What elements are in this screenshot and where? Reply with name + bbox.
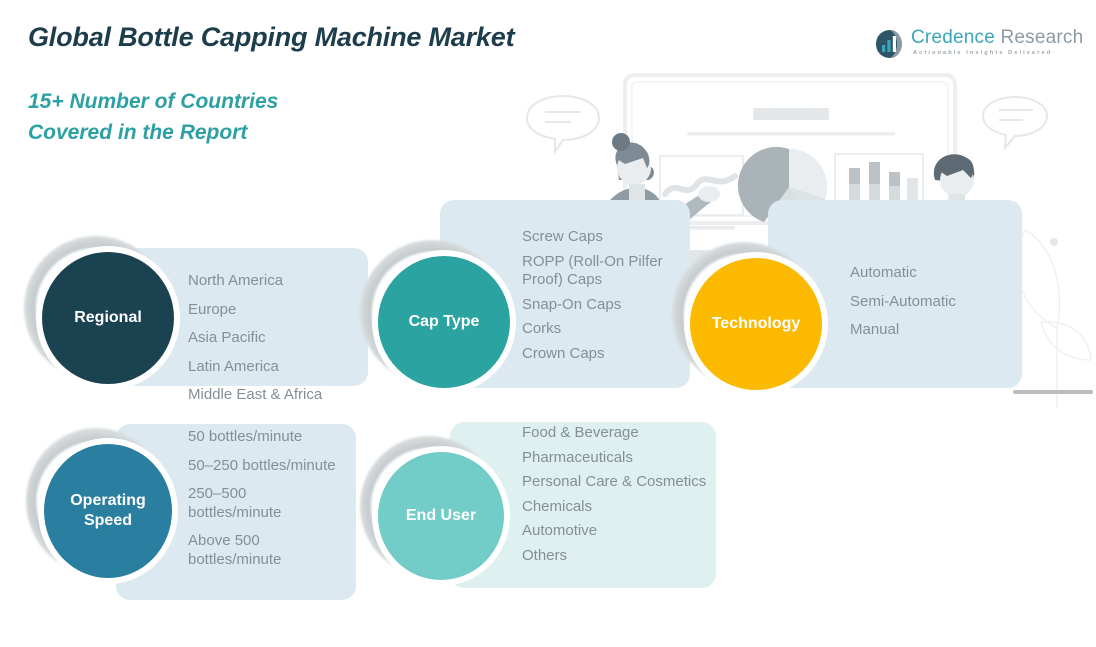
logo-brand-primary: Credence [911,27,995,48]
list-item: 50–250 bottles/minute [188,457,338,476]
list-item: ROPP (Roll-On Pilfer Proof) Caps [522,253,690,290]
list-item: North America [188,272,368,291]
list-item: Snap-On Caps [522,296,690,315]
list-item: Asia Pacific [188,329,368,348]
logo-tagline: Actionable Insights Delivered [913,50,1052,56]
segment-list-operating-speed: 50 bottles/minute 50–250 bottles/minute … [188,428,338,570]
list-item: Latin America [188,358,368,377]
list-item: Middle East & Africa [188,386,368,405]
list-item: Corks [522,320,690,339]
list-item: Automotive [522,522,708,541]
segment-list-cap-type: Screw Caps ROPP (Roll-On Pilfer Proof) C… [522,228,690,370]
segment-list-end-user: Food & Beverage Pharmaceuticals Personal… [522,424,708,572]
page-title: Global Bottle Capping Machine Market [28,22,514,53]
segment-circle-regional[interactable]: Regional [36,246,180,390]
list-item: Pharmaceuticals [522,449,708,468]
segment-circle-cap-type[interactable]: Cap Type [372,250,516,394]
speech-bubble-left [527,96,599,152]
list-item: 50 bottles/minute [188,428,338,447]
logo-brand-secondary: Research [995,27,1083,48]
segment-circle-operating-speed[interactable]: Operating Speed [38,438,178,584]
list-item: Above 500 bottles/minute [188,532,338,569]
segment-label-technology: Technology [690,258,822,390]
plant-outline [1017,230,1091,408]
infographic-canvas: Global Bottle Capping Machine Market 15+… [0,0,1096,647]
list-item: Europe [188,301,368,320]
list-item: Others [522,547,708,566]
list-item: Crown Caps [522,345,690,364]
list-item: Chemicals [522,498,708,517]
segment-circle-technology[interactable]: Technology [684,252,828,396]
list-item: 250–500 bottles/minute [188,485,338,522]
segment-label-regional: Regional [42,252,174,384]
list-item: Personal Care & Cosmetics [522,473,708,492]
segment-label-operating-speed: Operating Speed [44,444,172,578]
segment-list-regional: North America Europe Asia Pacific Latin … [188,272,368,405]
segment-label-cap-type: Cap Type [378,256,510,388]
bar-chart-logo-mark [875,29,905,59]
list-item: Semi-Automatic [850,293,1020,312]
credence-research-logo[interactable]: Credence Research Actionable Insights De… [875,27,1065,65]
speech-bubble-right [983,97,1047,148]
segment-label-end-user: End User [378,452,504,580]
list-item: Screw Caps [522,228,690,247]
segment-list-technology: Automatic Semi-Automatic Manual [850,264,1020,340]
segment-circle-end-user[interactable]: End User [372,446,510,586]
list-item: Manual [850,321,1020,340]
logo-wordmark: Credence Research [911,27,1083,49]
page-subtitle: 15+ Number of Countries Covered in the R… [28,86,278,148]
list-item: Food & Beverage [522,424,708,443]
list-item: Automatic [850,264,1020,283]
